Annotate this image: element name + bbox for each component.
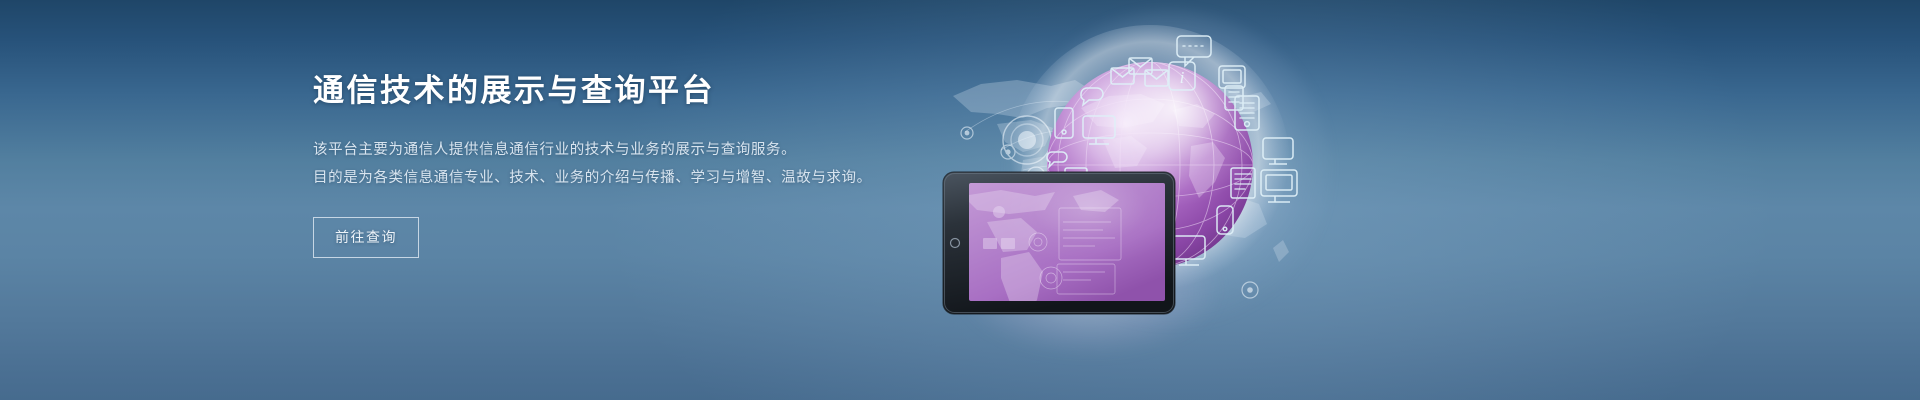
hero-description: 该平台主要为通信人提供信息通信行业的技术与业务的展示与查询服务。 目的是为各类信… [313, 136, 953, 192]
tablet-device [943, 172, 1175, 322]
go-to-query-button[interactable]: 前往查询 [313, 217, 419, 258]
hero-copy: 通信技术的展示与查询平台 该平台主要为通信人提供信息通信行业的技术与业务的展示与… [313, 72, 953, 258]
hero-artwork: i [905, 0, 1325, 400]
hero-description-line: 该平台主要为通信人提供信息通信行业的技术与业务的展示与查询服务。 [313, 136, 953, 164]
hero-banner: i [0, 0, 1920, 400]
svg-text:i: i [1180, 68, 1185, 87]
page-title: 通信技术的展示与查询平台 [313, 72, 953, 111]
hero-description-line: 目的是为各类信息通信专业、技术、业务的介绍与传播、学习与增智、温故与求询。 [313, 164, 953, 192]
